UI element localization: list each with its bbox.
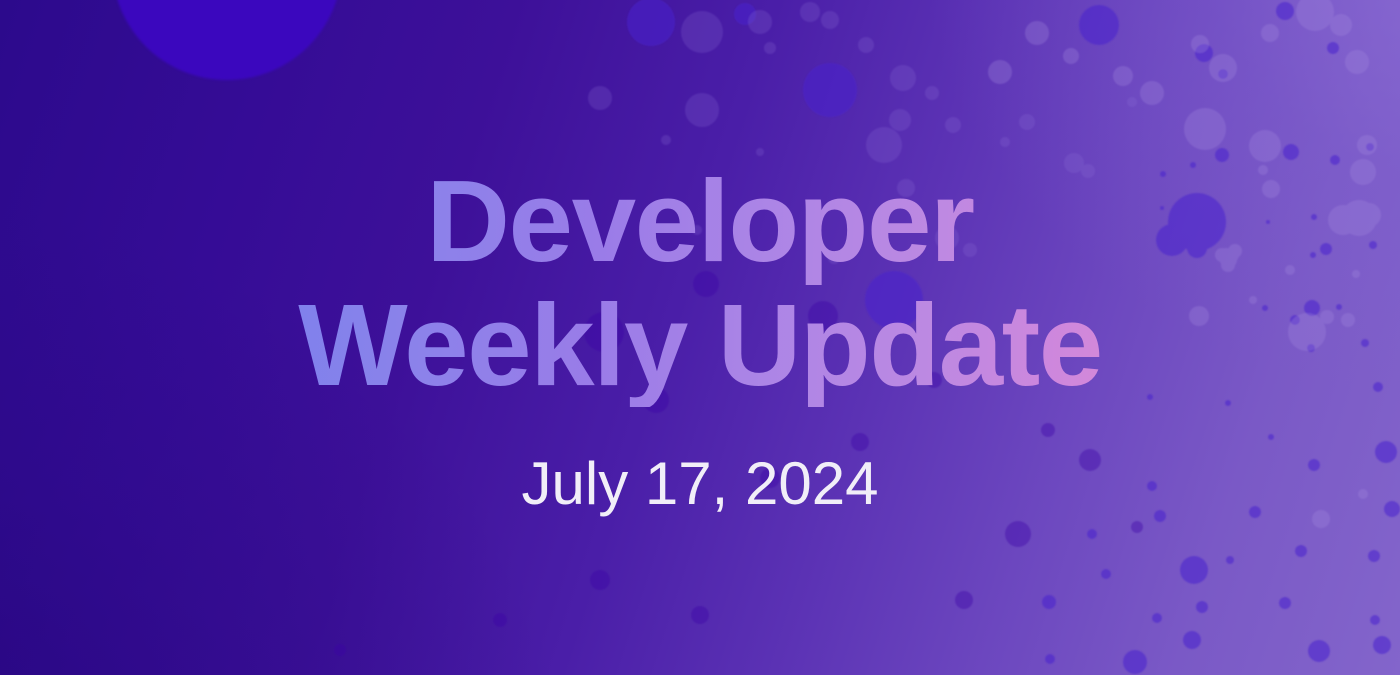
page-title: Developer Weekly Update: [286, 159, 1114, 407]
slide-content: Developer Weekly Update July 17, 2024: [0, 0, 1400, 675]
title-slide: Developer Weekly Update July 17, 2024: [0, 0, 1400, 675]
title-line-1: Developer: [298, 159, 1102, 283]
title-line-2: Weekly Update: [298, 283, 1102, 407]
slide-date: July 17, 2024: [522, 451, 879, 517]
